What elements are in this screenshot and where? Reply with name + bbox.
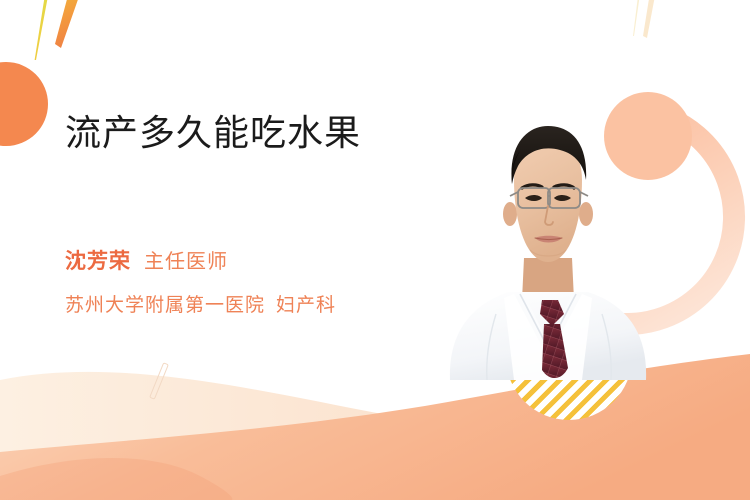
- doctor-department: 妇产科: [276, 295, 336, 316]
- doctor-identity-line: 沈芳荣主任医师: [65, 249, 228, 275]
- stripe-thick-tr: [643, 0, 658, 38]
- stripe-thin: [35, 0, 50, 60]
- head: [503, 126, 593, 262]
- stripe-thin-tr: [633, 0, 642, 36]
- page-title: 流产多久能吃水果: [65, 113, 361, 153]
- doctor-name: 沈芳荣: [65, 250, 131, 273]
- diagonal-stripe-top-left: [0, 0, 160, 120]
- doctor-hospital: 苏州大学附属第一医院: [65, 295, 265, 316]
- doctor-rank: 主任医师: [144, 251, 228, 273]
- ear-right: [579, 202, 593, 226]
- diagonal-stripe-top-right: [610, 0, 700, 66]
- stripe-thick: [55, 0, 82, 48]
- doctor-photo: [432, 118, 664, 380]
- doctor-affiliation-line: 苏州大学附属第一医院妇产科: [65, 290, 336, 317]
- doctor-info-card: 流产多久能吃水果 沈芳荣主任医师 苏州大学附属第一医院妇产科: [0, 0, 750, 500]
- ear-left: [503, 202, 517, 226]
